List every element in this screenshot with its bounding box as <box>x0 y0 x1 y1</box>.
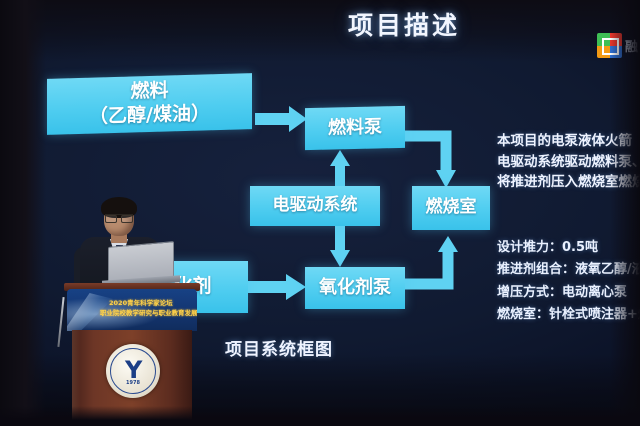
podium-banner: 2020青年科学家论坛 职业院校教学研究与职业教育发展论坛 <box>67 289 197 331</box>
diagram-node-fuel-pump[interactable]: 燃料泵 <box>305 106 405 150</box>
node-fuel-line1: 燃料 <box>89 79 210 106</box>
screen-top-shade <box>0 0 640 62</box>
glasses-icon <box>105 214 133 221</box>
arrow-oxpump-to-chamber <box>402 236 466 298</box>
arrow-oxidizer-to-oxpump <box>246 272 308 302</box>
arrow-drive-to-oxpump <box>330 226 350 268</box>
speaker-and-podium: 2020青年科学家论坛 职业院校教学研究与职业教育发展论坛 Y 1978 <box>58 185 208 426</box>
diagram-node-combustion-chamber[interactable]: 燃烧室 <box>412 186 490 230</box>
screenshot-root: 项目描述 融 <box>0 0 640 426</box>
diagram-caption: 项目系统框图 <box>225 335 333 360</box>
arrow-fuel-to-fuelpump <box>255 104 309 134</box>
institution-emblem: Y 1978 <box>106 344 160 398</box>
banner-subtitle-line: 职业院校教学研究与职业教育发展论坛 <box>100 307 197 317</box>
emblem-year: 1978 <box>106 380 160 386</box>
arrow-fuelpump-to-drive <box>330 150 350 188</box>
arrow-fuelpump-to-chamber <box>400 122 470 192</box>
slide-title: 项目描述 <box>348 6 460 42</box>
diagram-node-electric-drive-system[interactable]: 电驱动系统 <box>250 186 380 226</box>
diagram-node-fuel[interactable]: 燃料 （乙醇/煤油） <box>47 73 252 135</box>
wall-right-shade <box>610 0 640 426</box>
banner-title-line: 2020青年科学家论坛 <box>109 297 173 307</box>
microphone-stand <box>57 297 64 347</box>
diagram-node-oxidizer-pump[interactable]: 氧化剂泵 <box>305 267 405 309</box>
wall-left-shade <box>0 0 46 426</box>
floor-shadow <box>0 406 640 426</box>
node-fuel-line2: （乙醇/煤油） <box>89 102 210 129</box>
